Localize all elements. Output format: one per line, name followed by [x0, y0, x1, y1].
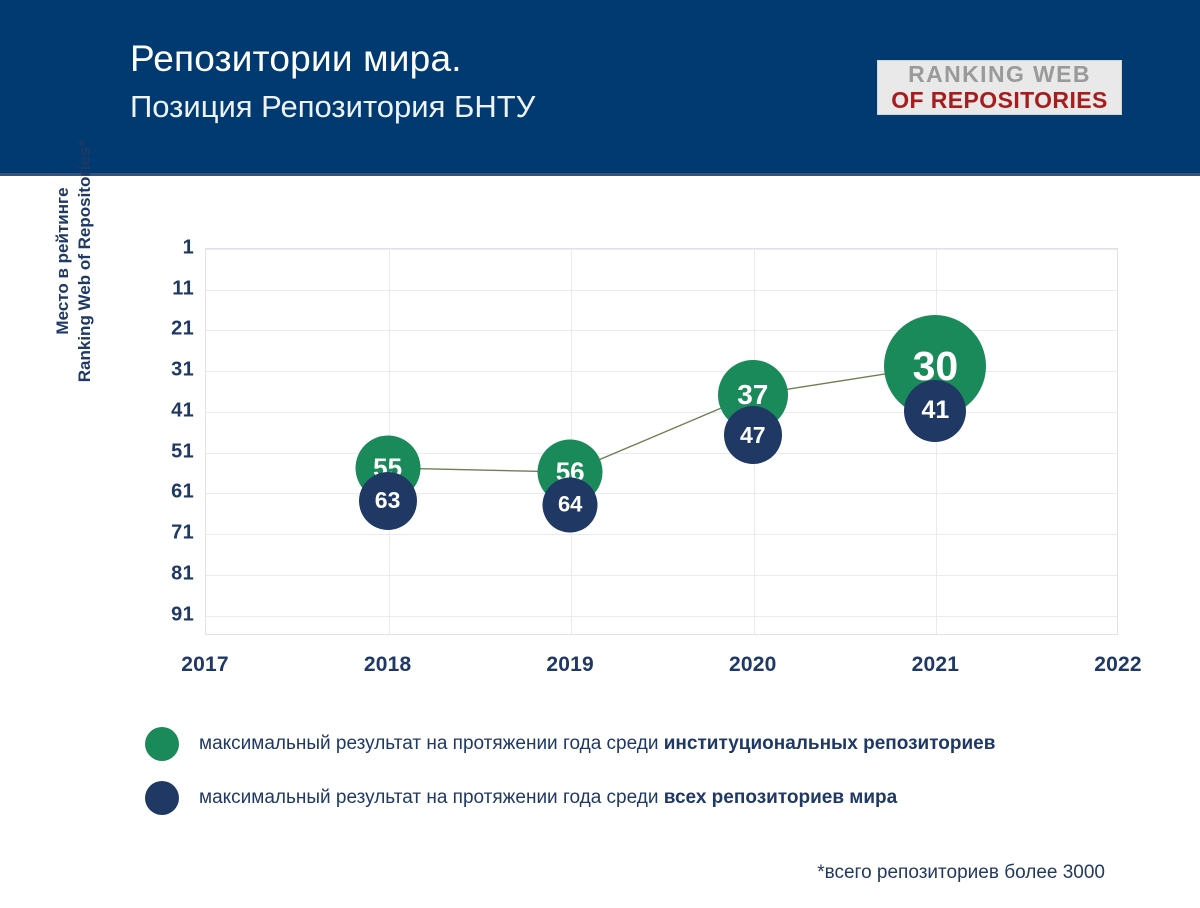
trend-line-path: [388, 366, 936, 472]
legend-label-institutional: максимальный результат на протяжении год…: [199, 733, 995, 755]
chart-footnote: *всего репозиториев более 3000: [817, 862, 1105, 884]
logo-line-ranking-web: RANKING WEB: [908, 63, 1091, 86]
ranking-web-logo: RANKING WEB OF REPOSITORIES: [877, 60, 1122, 115]
y-axis-title-line2: Ranking Web of Repositories*: [74, 91, 96, 431]
header-band: Репозитории мира. Позиция Репозитория БН…: [0, 0, 1200, 176]
bubble-value-label: 63: [375, 487, 401, 514]
legend-label-institutional-bold: институциональных репозиториев: [664, 733, 996, 754]
y-axis-tick-label: 11: [114, 277, 194, 300]
legend-label-all-normal: максимальный результат на протяжении год…: [199, 787, 664, 808]
legend-item-all-repositories: максимальный результат на протяжении год…: [145, 781, 1145, 815]
legend-label-institutional-normal: максимальный результат на протяжении год…: [199, 733, 664, 754]
y-axis-title: Место в рейтинге Ranking Web of Reposito…: [52, 91, 96, 431]
y-axis-tick-label: 61: [114, 481, 194, 504]
legend-label-all-repositories: максимальный результат на протяжении год…: [199, 787, 897, 809]
x-axis-ticks: 201720182019202020212022: [205, 653, 1118, 683]
y-axis-tick-label: 31: [114, 359, 194, 382]
x-axis-tick-label: 2019: [510, 653, 630, 677]
y-axis-tick-label: 21: [114, 318, 194, 341]
x-axis-tick-label: 2020: [693, 653, 813, 677]
legend-label-all-bold: всех репозиториев мира: [664, 787, 897, 808]
legend-swatch-navy-icon: [145, 781, 179, 815]
y-axis-tick-label: 1: [114, 237, 194, 260]
logo-line-of-repositories: OF REPOSITORIES: [891, 88, 1107, 112]
bubble-all-2021[interactable]: 41: [904, 380, 966, 442]
y-axis-ticks: 1112131415161718191: [110, 248, 194, 635]
x-axis-tick-label: 2021: [875, 653, 995, 677]
trend-line: [205, 248, 1118, 635]
title-block: Репозитории мира. Позиция Репозитория БН…: [130, 38, 535, 127]
y-axis-tick-label: 71: [114, 522, 194, 545]
bubble-value-label: 41: [921, 396, 949, 425]
page-subtitle: Позиция Репозитория БНТУ: [130, 87, 535, 127]
legend-item-institutional: максимальный результат на протяжении год…: [145, 727, 1145, 761]
page-title: Репозитории мира.: [130, 38, 535, 81]
y-axis-tick-label: 41: [114, 399, 194, 422]
y-axis-tick-label: 51: [114, 440, 194, 463]
legend-swatch-green-icon: [145, 727, 179, 761]
y-axis-tick-label: 91: [114, 603, 194, 626]
y-axis-title-line1: Место в рейтинге: [52, 91, 74, 431]
bubble-all-2019[interactable]: 64: [543, 477, 598, 532]
bubble-value-label: 47: [740, 422, 766, 449]
bubble-chart: Место в рейтинге Ranking Web of Reposito…: [0, 176, 1200, 908]
chart-legend: максимальный результат на протяжении год…: [145, 727, 1145, 835]
bubble-all-2020[interactable]: 47: [724, 406, 782, 464]
bubble-value-label: 64: [558, 492, 582, 518]
x-axis-tick-label: 2018: [328, 653, 448, 677]
data-points-layer: 5556373063644741: [205, 248, 1118, 635]
x-axis-tick-label: 2017: [145, 653, 265, 677]
x-axis-tick-label: 2022: [1058, 653, 1178, 677]
y-axis-tick-label: 81: [114, 562, 194, 585]
bubble-all-2018[interactable]: 63: [359, 472, 417, 530]
